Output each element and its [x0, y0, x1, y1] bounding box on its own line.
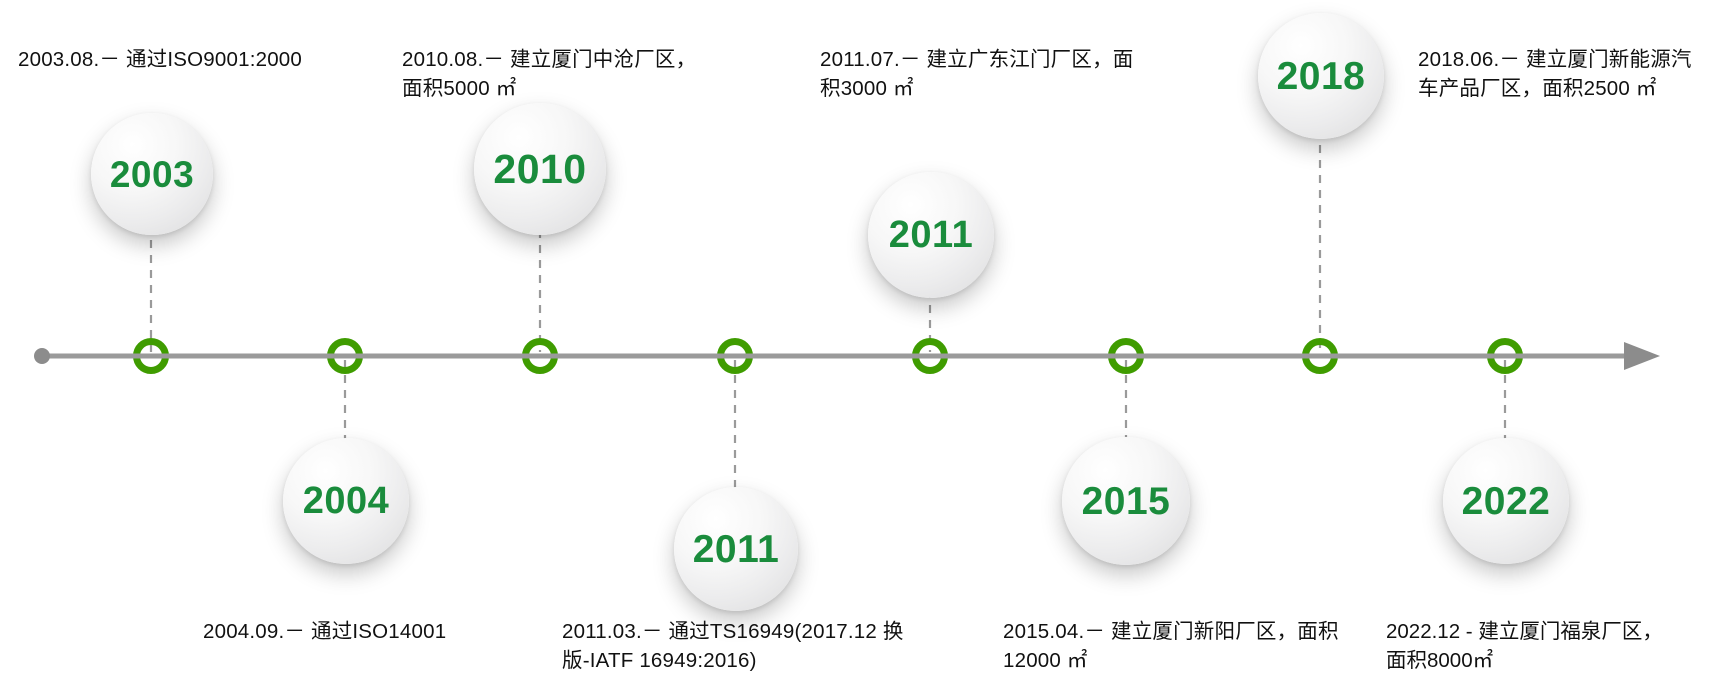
year-bubble-label: 2022 [1462, 482, 1551, 521]
caption-2011-07: 2011.07.－ 建立广东江门厂区，面 积3000 ㎡ [820, 45, 1150, 103]
year-bubble-2015[interactable]: 2015 [1062, 437, 1190, 565]
year-bubble-2022[interactable]: 2022 [1443, 438, 1569, 564]
timeline-end-arrow-icon [1624, 342, 1660, 370]
year-bubble-2011-03[interactable]: 2011 [674, 487, 798, 611]
timeline-node-5[interactable] [916, 342, 945, 371]
caption-2018: 2018.06.－ 建立厦门新能源汽 车产品厂区，面积2500 ㎡ [1418, 45, 1718, 103]
year-bubble-label: 2011 [693, 530, 780, 569]
caption-2003: 2003.08.－ 通过ISO9001:2000 [18, 45, 348, 74]
year-bubble-label: 2010 [493, 149, 586, 190]
year-bubble-2018[interactable]: 2018 [1258, 13, 1384, 139]
timeline-node-6[interactable] [1112, 342, 1141, 371]
year-bubble-label: 2011 [889, 216, 973, 254]
timeline-node-2[interactable] [331, 342, 360, 371]
year-bubble-label: 2004 [303, 482, 390, 520]
timeline-diagram: 2003 2004 2010 2011 2011 2015 2018 2022 … [0, 0, 1720, 677]
caption-2011-03: 2011.03.－ 通过TS16949(2017.12 换 版-IATF 169… [562, 617, 922, 675]
timeline-node-7[interactable] [1306, 342, 1335, 371]
year-bubble-2011-07[interactable]: 2011 [868, 172, 994, 298]
timeline-node-8[interactable] [1491, 342, 1520, 371]
year-bubble-label: 2015 [1082, 482, 1171, 521]
caption-2022: 2022.12 - 建立厦门福泉厂区， 面积8000㎡ [1386, 617, 1716, 675]
year-bubble-label: 2018 [1277, 57, 1366, 96]
timeline-node-4[interactable] [721, 342, 750, 371]
caption-2015: 2015.04.－ 建立厦门新阳厂区，面积 12000 ㎡ [1003, 617, 1383, 675]
timeline-node-1[interactable] [137, 342, 166, 371]
timeline-start-dot [34, 348, 50, 364]
caption-2004: 2004.09.－ 通过ISO14001 [203, 617, 533, 646]
timeline-node-3[interactable] [526, 342, 555, 371]
year-bubble-2004[interactable]: 2004 [283, 438, 409, 564]
year-bubble-2010[interactable]: 2010 [474, 103, 606, 235]
caption-2010: 2010.08.－ 建立厦门中沧厂区， 面积5000 ㎡ [402, 45, 722, 103]
year-bubble-2003[interactable]: 2003 [91, 113, 213, 235]
year-bubble-label: 2003 [110, 156, 194, 193]
